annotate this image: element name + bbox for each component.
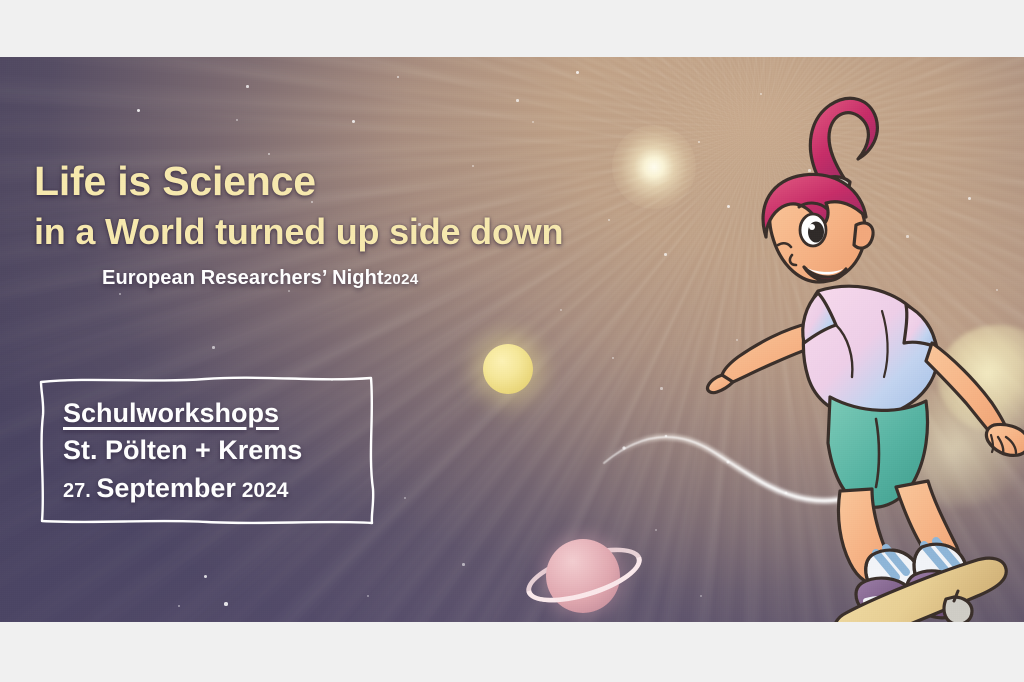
workshop-date-month: September xyxy=(96,473,236,503)
event-banner-image: Life is Science in a World turned up sid… xyxy=(0,57,1024,622)
workshop-heading: Schulworkshops xyxy=(63,395,363,431)
event-subtitle-year: 2024 xyxy=(384,271,419,288)
workshop-date-day: 27. xyxy=(63,480,96,502)
workshop-date-year: 2024 xyxy=(236,479,289,502)
page-root: Life is Science in a World turned up sid… xyxy=(0,0,1024,682)
headline-line-2: in a World turned up side down xyxy=(34,209,674,255)
workshop-info-box: Schulworkshops St. Pölten + Krems 27. Se… xyxy=(37,373,377,527)
warm-light-flood-secondary xyxy=(0,57,1024,622)
workshop-date: 27. September 2024 xyxy=(63,469,363,510)
event-subtitle-text: European Researchers’ Night xyxy=(102,267,384,289)
workshop-location: St. Pölten + Krems xyxy=(63,431,363,469)
event-subtitle: European Researchers’ Night2024 xyxy=(102,265,674,293)
workshop-info-content: Schulworkshops St. Pölten + Krems 27. Se… xyxy=(63,395,363,510)
headline-block: Life is Science in a World turned up sid… xyxy=(34,155,674,293)
headline-line-1: Life is Science xyxy=(34,155,674,207)
